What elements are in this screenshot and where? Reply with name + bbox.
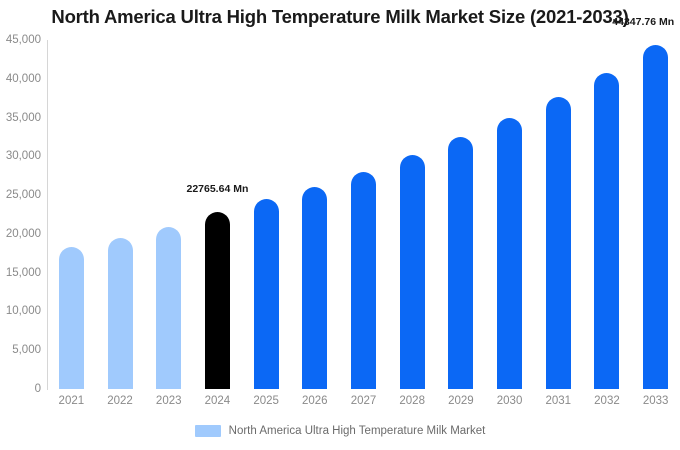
x-axis-tick: 2033 [643, 395, 669, 407]
x-axis-tick-labels: 2021202220232024202520262027202820292030… [47, 395, 680, 413]
bar-series: 22765.64 Mn44347.76 Mn [47, 40, 680, 389]
x-axis-tick: 2022 [107, 395, 133, 407]
bar-slot [400, 40, 425, 389]
x-axis-tick: 2031 [545, 395, 571, 407]
bar-value-label: 44347.76 Mn [612, 16, 674, 28]
y-axis-tick: 5,000 [12, 344, 41, 356]
bar-slot [302, 40, 327, 389]
y-axis-tick: 30,000 [6, 150, 41, 162]
bar-slot [59, 40, 84, 389]
bar[interactable] [59, 247, 84, 389]
bar[interactable] [302, 187, 327, 389]
chart-legend: North America Ultra High Temperature Mil… [0, 425, 680, 437]
bar[interactable] [108, 238, 133, 389]
y-axis-tick: 10,000 [6, 305, 41, 317]
x-axis-tick: 2026 [302, 395, 328, 407]
bar-slot [594, 40, 619, 389]
bar-slot: 44347.76 Mn [643, 40, 668, 389]
x-axis-tick: 2024 [205, 395, 231, 407]
x-axis-tick: 2021 [59, 395, 85, 407]
y-axis-tick: 45,000 [6, 34, 41, 46]
y-axis-tick: 15,000 [6, 267, 41, 279]
bar[interactable] [497, 118, 522, 389]
x-axis-tick: 2028 [399, 395, 425, 407]
bar[interactable] [156, 227, 181, 389]
x-axis-tick: 2032 [594, 395, 620, 407]
bar-slot [448, 40, 473, 389]
bar-slot [254, 40, 279, 389]
bar-slot [351, 40, 376, 389]
chart-title: North America Ultra High Temperature Mil… [0, 6, 680, 28]
y-axis-tick-labels: 05,00010,00015,00020,00025,00030,00035,0… [0, 40, 41, 389]
y-axis-tick: 20,000 [6, 228, 41, 240]
bar[interactable] [351, 172, 376, 389]
legend-swatch-icon [195, 425, 221, 437]
bar-slot [546, 40, 571, 389]
bar-slot: 22765.64 Mn [205, 40, 230, 389]
y-axis-tick: 0 [35, 383, 41, 395]
x-axis-tick: 2030 [497, 395, 523, 407]
bar-slot [497, 40, 522, 389]
bar[interactable] [254, 199, 279, 389]
x-axis-tick: 2023 [156, 395, 182, 407]
y-axis-tick: 40,000 [6, 73, 41, 85]
bar[interactable] [400, 155, 425, 389]
bar[interactable] [448, 137, 473, 389]
legend-label: North America Ultra High Temperature Mil… [229, 425, 486, 437]
x-axis-tick: 2029 [448, 395, 474, 407]
bar-chart: North America Ultra High Temperature Mil… [0, 0, 680, 450]
bar-slot [108, 40, 133, 389]
bar[interactable] [594, 73, 619, 389]
bar-value-label: 22765.64 Mn [186, 183, 248, 195]
x-axis-tick: 2025 [253, 395, 279, 407]
bar[interactable] [643, 45, 668, 389]
bar[interactable] [205, 212, 230, 389]
bar-slot [156, 40, 181, 389]
x-axis-tick: 2027 [351, 395, 377, 407]
y-axis-tick: 35,000 [6, 112, 41, 124]
bar[interactable] [546, 97, 571, 389]
y-axis-tick: 25,000 [6, 189, 41, 201]
